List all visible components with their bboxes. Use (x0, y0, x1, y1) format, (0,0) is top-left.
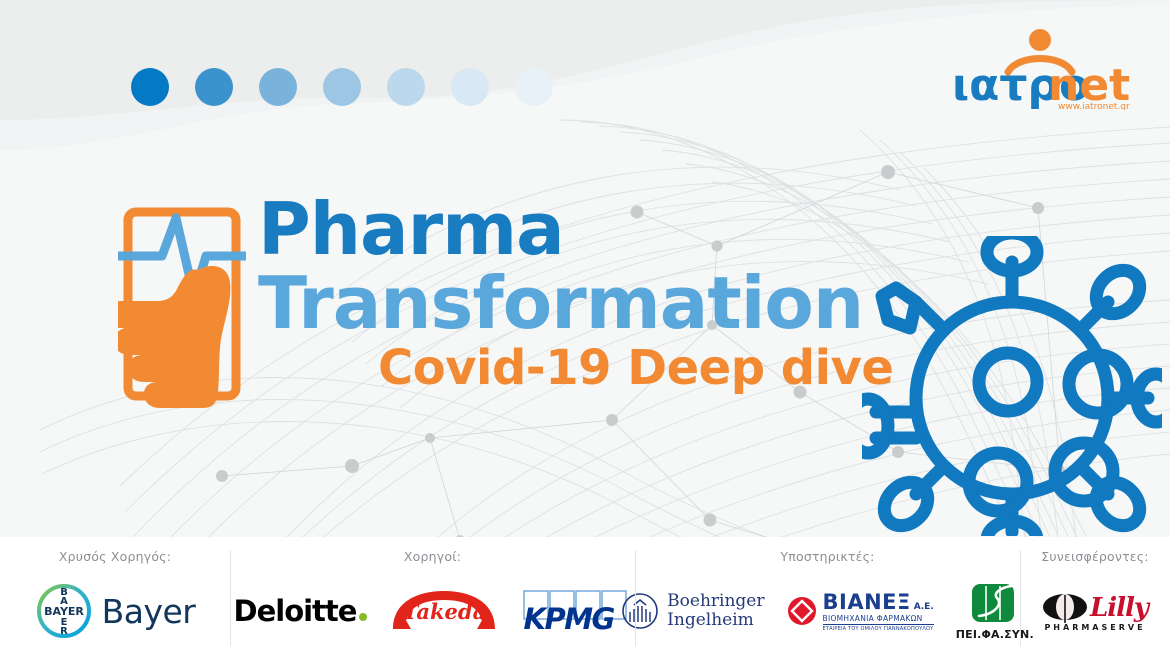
lilly-oval-icon (1042, 591, 1088, 625)
lilly-pharmaserve-logo[interactable]: Lilly PHARMASERVE (1042, 591, 1148, 632)
event-subtitle: Covid-19 Deep dive (258, 340, 948, 396)
sponsor-logos-gold: B A BAYER E R Bayer (0, 564, 230, 658)
promo-banner: ιατρο net www.iatronet.gr Pharma Transfo… (0, 0, 1170, 658)
bianex-mark-icon (787, 596, 817, 626)
sponsor-column-contributors: Συνεισφέροντες: Lilly PHARMASERVE (1020, 537, 1170, 658)
bayer-wordmark: Bayer (102, 592, 196, 631)
dot-5 (387, 68, 425, 106)
sponsor-bar: Χρυσός Χορηγός: B A (0, 537, 1170, 658)
coronavirus-icon (862, 236, 1162, 536)
bianex-wordmark: ΒΙΑΝΕΞ Α.Ε. ΒΙΟΜΗΧΑΝΙΑ ΦΑΡΜΑΚΩΝ ΕΤΑΙΡΕΙΑ… (823, 590, 934, 632)
bianex-name: ΒΙΑΝΕΞ (823, 590, 911, 614)
lilly-row: Lilly (1042, 591, 1148, 625)
boehringer-line1: Boehringer (667, 592, 764, 611)
boehringer-line2: Ingelheim (667, 611, 764, 630)
sponsor-column-gold: Χρυσός Χορηγός: B A (0, 537, 230, 658)
sponsor-column-supporters: Υποστηρικτές: (635, 537, 1020, 658)
deloitte-logo[interactable]: Deloitte (234, 594, 368, 628)
pharmaserve-wordmark: PHARMASERVE (1044, 623, 1145, 632)
event-title-block: Pharma Transformation Covid-19 Deep dive (258, 192, 948, 396)
bianex-top-row: ΒΙΑΝΕΞ Α.Ε. (823, 590, 934, 614)
boehringer-emblem-icon (621, 592, 659, 630)
decorative-dots-row (131, 68, 553, 106)
sponsor-logos-supporters: Boehringer Ingelheim ΒΙΑΝΕΞ Α.Ε. (635, 564, 1020, 658)
dot-4 (323, 68, 361, 106)
dot-2 (195, 68, 233, 106)
takeda-logo[interactable]: Takeda (389, 589, 499, 633)
sponsor-label-gold: Χρυσός Χορηγός: (59, 549, 171, 564)
boehringer-wordmark: Boehringer Ingelheim (667, 592, 764, 630)
kpmg-logo[interactable]: KPMG (521, 587, 631, 635)
svg-text:R: R (60, 626, 68, 637)
hand-holding-phone-heartbeat-icon (118, 196, 246, 408)
kpmg-wordmark: KPMG (523, 602, 629, 636)
deloitte-dot-icon (359, 613, 367, 621)
sponsor-logos-contributors: Lilly PHARMASERVE (1020, 564, 1170, 658)
sponsor-logos-sponsors: Deloitte Takeda (230, 564, 635, 658)
sponsor-label-contributors: Συνεισφέροντες: (1041, 549, 1148, 564)
event-logo-lockup: Pharma Transformation Covid-19 Deep dive (118, 196, 838, 422)
bianex-suffix: Α.Ε. (914, 602, 934, 612)
sponsor-label-sponsors: Χορηγοί: (404, 549, 461, 564)
lilly-wordmark: Lilly (1090, 593, 1148, 623)
bayer-logo[interactable]: B A BAYER E R Bayer (35, 582, 196, 640)
sponsor-column-sponsors: Χορηγοί: Deloitte Takeda (230, 537, 635, 658)
event-title-line1: Pharma (258, 192, 948, 266)
deloitte-wordmark: Deloitte (234, 594, 357, 628)
bayer-cross-icon: B A BAYER E R (35, 582, 93, 640)
dot-1 (131, 68, 169, 106)
event-title-line2: Transformation (258, 266, 948, 340)
dot-6 (451, 68, 489, 106)
takeda-wordmark: Takeda (389, 599, 499, 624)
boehringer-ingelheim-logo[interactable]: Boehringer Ingelheim (621, 592, 764, 630)
bianex-subtitle-2: ΕΤΑΙΡΕΙΑ ΤΟΥ ΟΜΙΛΟΥ ΓΙΑΝΝΑΚΟΠΟΥΛΟΥ (823, 626, 934, 632)
bianex-subtitle-1: ΒΙΟΜΗΧΑΝΙΑ ΦΑΡΜΑΚΩΝ (823, 614, 934, 625)
dot-3 (259, 68, 297, 106)
peifasyn-mark-icon (969, 582, 1021, 626)
iatronet-url: www.iatronet.gr (1058, 102, 1130, 110)
bianex-logo[interactable]: ΒΙΑΝΕΞ Α.Ε. ΒΙΟΜΗΧΑΝΙΑ ΦΑΡΜΑΚΩΝ ΕΤΑΙΡΕΙΑ… (787, 590, 934, 632)
sponsor-label-supporters: Υποστηρικτές: (780, 549, 874, 564)
iatronet-logo[interactable]: ιατρο net www.iatronet.gr (950, 28, 1130, 110)
dot-7 (515, 68, 553, 106)
